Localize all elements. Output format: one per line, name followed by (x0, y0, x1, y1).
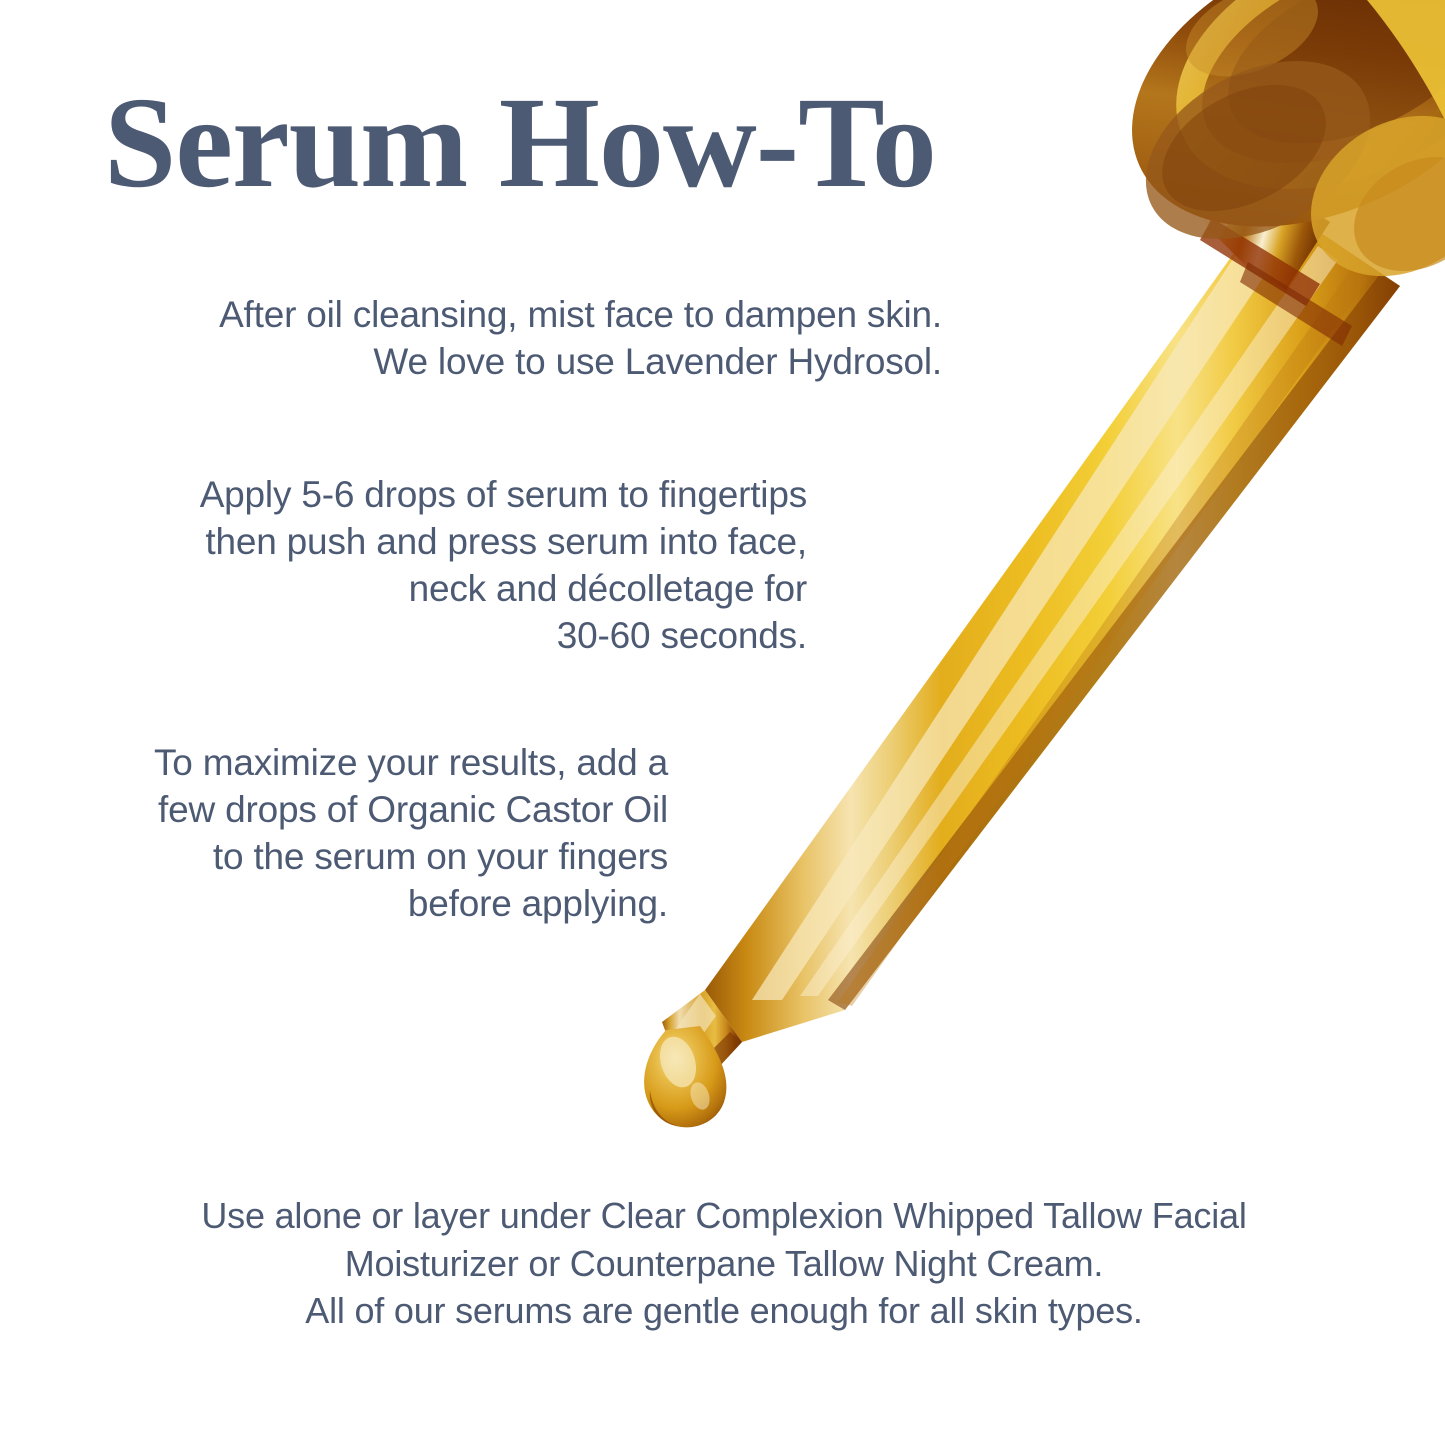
poster-canvas: Serum How-To After oil cleansing, mist f… (0, 0, 1445, 1445)
instruction-line: then push and press serum into face, (44, 519, 807, 566)
instruction-line: To maximize your results, add a (36, 740, 668, 787)
dropper-bulb-cap (1087, 0, 1445, 308)
instruction-line: All of our serums are gentle enough for … (40, 1287, 1408, 1335)
instruction-line: Moisturizer or Counterpane Tallow Night … (40, 1240, 1408, 1288)
instruction-line: We love to use Lavender Hydrosol. (44, 339, 942, 386)
instruction-line: few drops of Organic Castor Oil (36, 787, 668, 834)
instruction-step-3: To maximize your results, add a few drop… (36, 740, 668, 928)
instruction-step-1: After oil cleansing, mist face to dampen… (44, 292, 942, 386)
instruction-line: Use alone or layer under Clear Complexio… (40, 1192, 1408, 1240)
instruction-line: before applying. (36, 881, 668, 928)
instruction-step-4: Use alone or layer under Clear Complexio… (40, 1192, 1408, 1335)
instruction-step-2: Apply 5-6 drops of serum to fingertips t… (44, 472, 807, 660)
pipette-neck (1196, 140, 1352, 346)
instruction-line: 30-60 seconds. (44, 613, 807, 660)
page-title: Serum How-To (104, 78, 936, 208)
instruction-line: to the serum on your fingers (36, 834, 668, 881)
instruction-line: After oil cleansing, mist face to dampen… (44, 292, 942, 339)
instruction-line: Apply 5-6 drops of serum to fingertips (44, 472, 807, 519)
pipette-tip (662, 990, 742, 1068)
serum-droplet (644, 1026, 726, 1127)
instruction-line: neck and décolletage for (44, 566, 807, 613)
